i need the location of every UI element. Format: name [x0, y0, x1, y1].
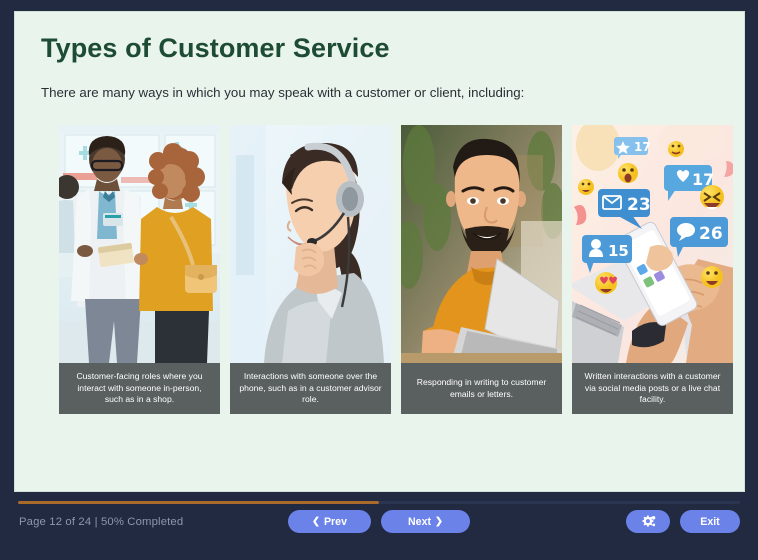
pharmacist-serving-customer-photo [59, 125, 220, 363]
prev-button[interactable]: ❮ Prev [288, 510, 371, 533]
social-media-notifications-phone-photo: 17 17 [572, 125, 733, 363]
chevron-left-icon: ❮ [312, 517, 320, 527]
page-status: Page 12 of 24 | 50% Completed [19, 516, 183, 528]
card-caption: Written interactions with a customer via… [572, 363, 733, 414]
card-row: Customer-facing roles where you interact… [59, 125, 729, 414]
man-typing-on-laptop-photo [401, 125, 562, 363]
prev-button-label: Prev [324, 516, 347, 528]
card-phone: Interactions with someone over the phone… [230, 125, 391, 414]
exit-button[interactable]: Exit [680, 510, 740, 533]
svg-text:15: 15 [608, 242, 629, 260]
chevron-right-icon: ❯ [435, 517, 443, 527]
slide-subtitle: There are many ways in which you may spe… [41, 84, 724, 102]
exit-button-label: Exit [700, 516, 719, 528]
slide-header: Types of Customer Service There are many… [41, 30, 724, 102]
elearning-player: Types of Customer Service There are many… [0, 0, 758, 560]
card-written: Responding in writing to customer emails… [401, 125, 562, 414]
gear-icon [641, 515, 656, 529]
player-footer: Page 12 of 24 | 50% Completed ❮ Prev Nex… [0, 498, 758, 560]
card-caption: Responding in writing to customer emails… [401, 363, 562, 414]
progress-bar-fill [18, 501, 379, 504]
card-social: 17 17 [572, 125, 733, 414]
slide-stage: Types of Customer Service There are many… [14, 11, 745, 492]
page-title: Types of Customer Service [41, 30, 724, 66]
next-button-label: Next [408, 516, 431, 528]
svg-text:17: 17 [634, 140, 651, 154]
progress-bar[interactable] [18, 501, 740, 504]
nav-buttons: ❮ Prev Next ❯ [288, 510, 470, 533]
svg-text:23: 23 [627, 195, 651, 215]
settings-button[interactable] [626, 510, 670, 533]
card-in-person: Customer-facing roles where you interact… [59, 125, 220, 414]
player-controls: Exit [626, 510, 740, 533]
card-caption: Customer-facing roles where you interact… [59, 363, 220, 414]
card-caption: Interactions with someone over the phone… [230, 363, 391, 414]
next-button[interactable]: Next ❯ [381, 510, 470, 533]
svg-text:26: 26 [699, 224, 723, 244]
call-centre-agent-headset-photo [230, 125, 391, 363]
